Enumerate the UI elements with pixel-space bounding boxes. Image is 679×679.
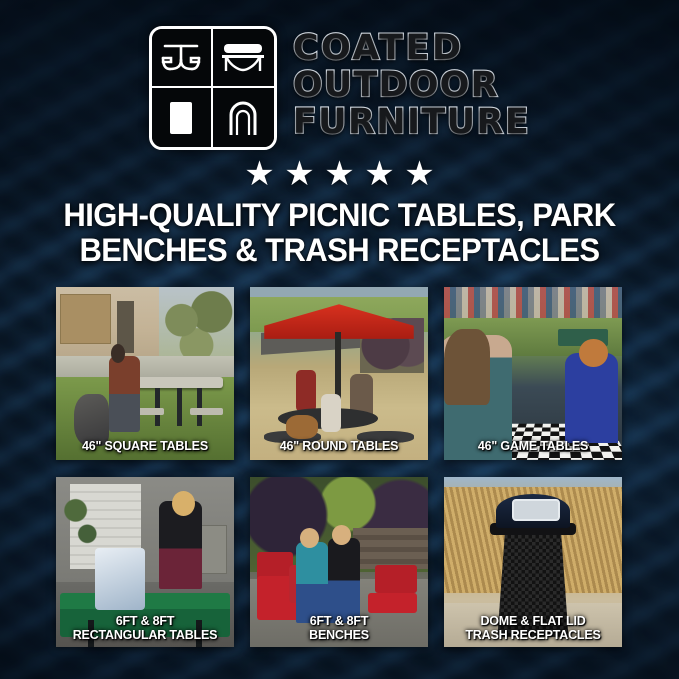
star-icon: ★ <box>324 160 355 190</box>
page-title: HIGH-QUALITY PICNIC TABLES, PARK BENCHES… <box>35 198 643 267</box>
poster-content: COATED OUTDOOR FURNITURE ★ ★ ★ ★ ★ HIGH-… <box>0 0 679 679</box>
picnic-table-icon <box>152 29 213 88</box>
brand-word-coated: COATED <box>293 31 464 67</box>
product-photo <box>444 287 622 460</box>
brand-word-outdoor: OUTDOOR <box>293 68 499 104</box>
trash-receptacle-icon <box>152 88 213 147</box>
caption-line-1: 6FT & 8FT <box>60 615 230 628</box>
product-caption: 6FT & 8FT RECTANGULAR TABLES <box>56 615 234 642</box>
product-caption: 46" ROUND TABLES <box>250 440 428 453</box>
star-icon: ★ <box>404 160 435 190</box>
headline-line-1: HIGH-QUALITY PICNIC TABLES, PARK <box>63 197 615 233</box>
product-tile-trash-receptacles[interactable]: DOME & FLAT LID TRASH RECEPTACLES <box>444 477 622 647</box>
star-icon: ★ <box>364 160 395 190</box>
promo-poster: COATED OUTDOOR FURNITURE ★ ★ ★ ★ ★ HIGH-… <box>0 0 679 679</box>
brand-logo: COATED OUTDOOR FURNITURE <box>0 26 679 150</box>
star-icon: ★ <box>284 160 315 190</box>
logo-icon-grid <box>149 26 277 150</box>
caption-line-1: 46" ROUND TABLES <box>254 440 424 453</box>
park-bench-icon <box>213 29 274 88</box>
brand-wordmark: COATED OUTDOOR FURNITURE <box>293 31 530 144</box>
product-tile-square-tables[interactable]: 46" SQUARE TABLES <box>56 287 234 460</box>
caption-line-1: 46" GAME TABLES <box>448 440 618 453</box>
product-tile-round-tables[interactable]: 46" ROUND TABLES <box>250 287 428 460</box>
caption-line-2: TRASH RECEPTACLES <box>448 629 618 642</box>
caption-line-2: RECTANGULAR TABLES <box>60 629 230 642</box>
brand-word-furniture: FURNITURE <box>293 105 530 141</box>
headline-line-2: BENCHES & TRASH RECEPTACLES <box>35 233 643 268</box>
product-caption: 6FT & 8FT BENCHES <box>250 615 428 642</box>
star-rating: ★ ★ ★ ★ ★ <box>0 160 679 190</box>
product-caption: DOME & FLAT LID TRASH RECEPTACLES <box>444 615 622 642</box>
caption-line-2: BENCHES <box>254 629 424 642</box>
caption-line-1: 46" SQUARE TABLES <box>60 440 230 453</box>
star-icon: ★ <box>244 160 275 190</box>
caption-line-1: DOME & FLAT LID <box>448 615 618 628</box>
product-grid: 46" SQUARE TABLES 46" ROUND TABLES <box>56 287 623 647</box>
product-photo <box>250 287 428 460</box>
caption-line-1: 6FT & 8FT <box>254 615 424 628</box>
product-tile-benches[interactable]: 6FT & 8FT BENCHES <box>250 477 428 647</box>
product-tile-game-tables[interactable]: 46" GAME TABLES <box>444 287 622 460</box>
product-caption: 46" SQUARE TABLES <box>56 440 234 453</box>
bike-rack-icon <box>213 88 274 147</box>
product-caption: 46" GAME TABLES <box>444 440 622 453</box>
product-photo <box>56 287 234 460</box>
product-tile-rectangular-tables[interactable]: 6FT & 8FT RECTANGULAR TABLES <box>56 477 234 647</box>
